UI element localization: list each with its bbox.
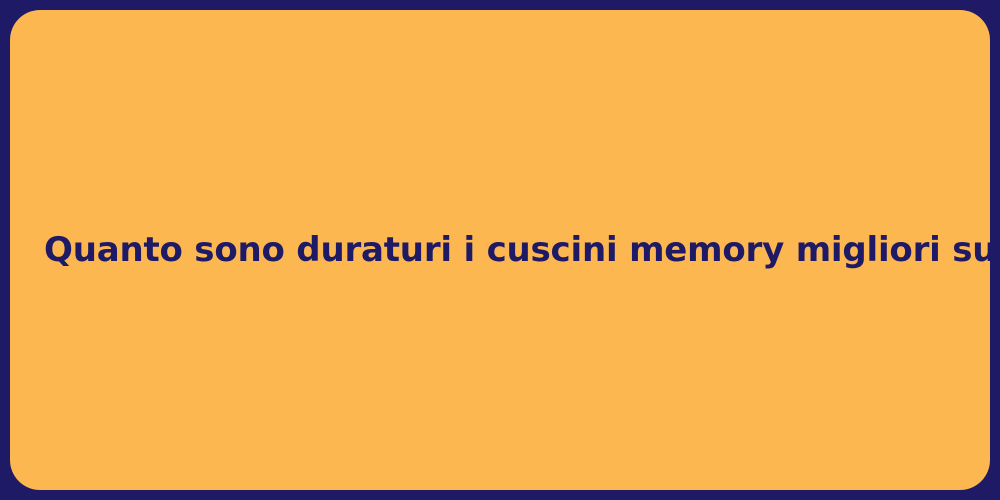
card-surface: Quanto sono duraturi i cuscini memory mi… [10,10,990,490]
headline-container: Quanto sono duraturi i cuscini memory mi… [10,10,990,490]
card-frame: Quanto sono duraturi i cuscini memory mi… [0,0,1000,500]
headline-question: Quanto sono duraturi i cuscini memory mi… [44,229,956,272]
